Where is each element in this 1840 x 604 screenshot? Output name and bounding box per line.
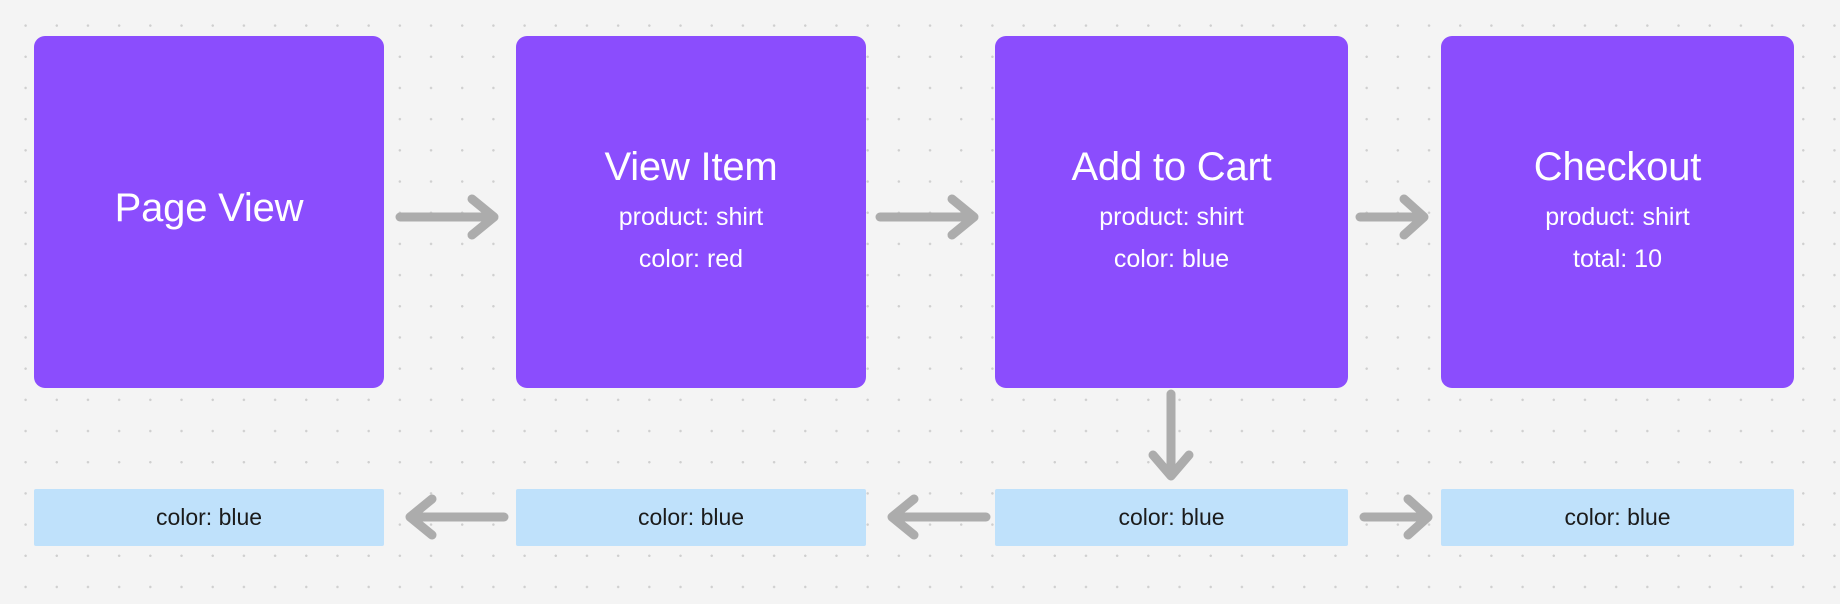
flow-node-title: Checkout: [1534, 144, 1701, 190]
flow-node-checkout[interactable]: Checkout product: shirt total: 10: [1441, 36, 1794, 388]
flow-node-property: color: blue: [1114, 239, 1229, 281]
arrow-right-icon-pill-three-to-pill-four: [1360, 494, 1440, 540]
flow-pill-label: color: blue: [638, 504, 744, 531]
arrow-left-icon-pill-two-to-pill-one: [392, 494, 508, 540]
arrow-right-icon-add-to-cart-to-checkout: [1356, 194, 1436, 240]
flow-node-property: product: shirt: [1545, 197, 1690, 239]
flow-pill-label: color: blue: [156, 504, 262, 531]
flow-node-property: product: shirt: [1099, 197, 1244, 239]
arrow-right-icon-page-view-to-view-item: [396, 194, 506, 240]
flow-node-add-to-cart[interactable]: Add to Cart product: shirt color: blue: [995, 36, 1348, 388]
flow-node-title: Add to Cart: [1071, 144, 1271, 190]
flow-node-property: total: 10: [1573, 239, 1662, 281]
flow-pill-one[interactable]: color: blue: [34, 489, 384, 546]
flow-node-view-item[interactable]: View Item product: shirt color: red: [516, 36, 866, 388]
arrow-left-icon-pill-three-to-pill-two: [874, 494, 990, 540]
flow-node-properties: product: shirt color: blue: [1099, 197, 1244, 280]
flow-node-title: Page View: [115, 185, 304, 231]
flow-node-page-view[interactable]: Page View: [34, 36, 384, 388]
flow-pill-four[interactable]: color: blue: [1441, 489, 1794, 546]
flow-node-properties: product: shirt total: 10: [1545, 197, 1690, 280]
flow-pill-label: color: blue: [1564, 504, 1670, 531]
flow-pill-label: color: blue: [1118, 504, 1224, 531]
flow-node-properties: product: shirt color: red: [619, 197, 764, 280]
flow-node-property: color: red: [639, 239, 743, 281]
flow-pill-three[interactable]: color: blue: [995, 489, 1348, 546]
flow-node-title: View Item: [604, 144, 777, 190]
flow-node-property: product: shirt: [619, 197, 764, 239]
flow-pill-two[interactable]: color: blue: [516, 489, 866, 546]
arrow-down-icon-add-to-cart-to-pill: [1146, 392, 1196, 488]
flow-canvas[interactable]: Page View View Item product: shirt color…: [0, 0, 1840, 604]
arrow-right-icon-view-item-to-add-to-cart: [876, 194, 986, 240]
